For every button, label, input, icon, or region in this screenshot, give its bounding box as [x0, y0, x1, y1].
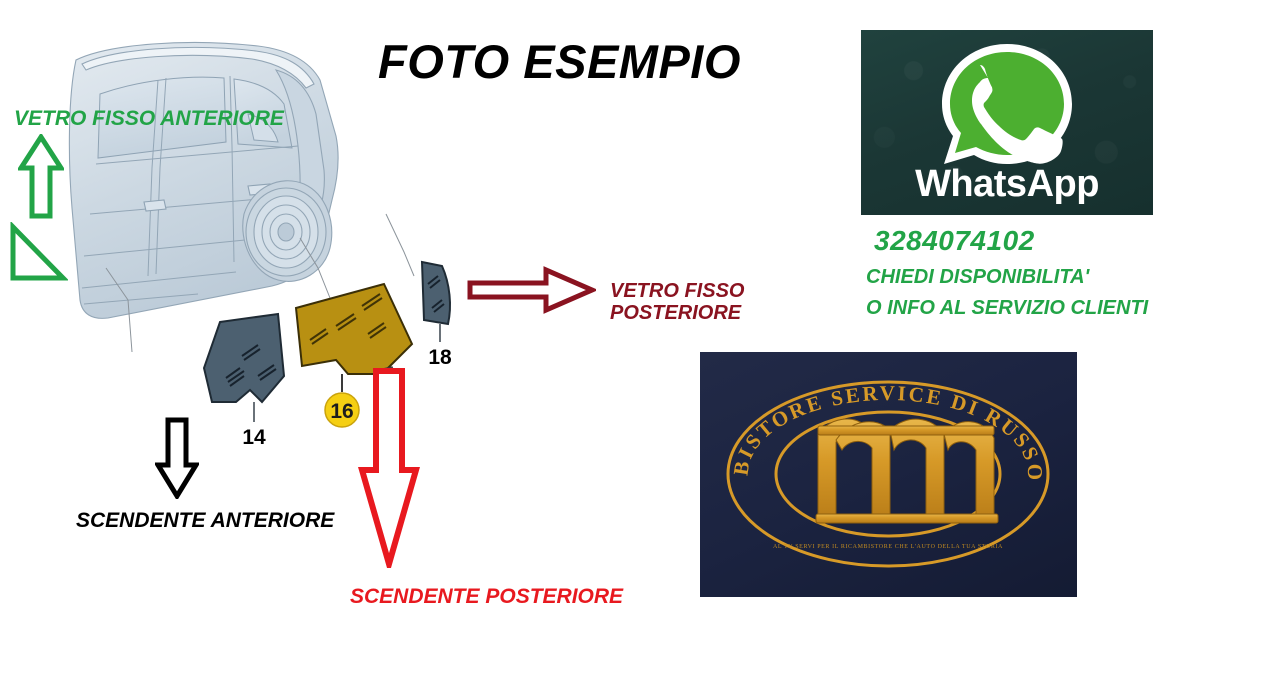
page-title: FOTO ESEMPIO [378, 34, 741, 89]
arrow-right-darkred-icon [466, 266, 596, 314]
part-label-16: 16 [330, 400, 353, 423]
part-label-14: 14 [242, 426, 266, 449]
callout-label-vetro-fisso-posteriore: VETRO FISSO POSTERIORE [610, 280, 744, 325]
brand-logo-artwork: MRICAMBISTORE SERVICE DI RUSSO MARCO AL … [700, 352, 1077, 597]
callout-label-scendente-anteriore: SCENDENTE ANTERIORE [76, 509, 334, 533]
callout-line-1: VETRO FISSO [610, 280, 744, 302]
arrow-down-black-icon [155, 417, 199, 499]
callout-label-vetro-fisso-anteriore: VETRO FISSO ANTERIORE [14, 107, 284, 131]
arrow-up-green-icon [18, 134, 64, 220]
logo-fine-print: AL TU SERVI PER IL RICAMBISTORE CHE L'AU… [773, 544, 1003, 550]
brand-logo: MRICAMBISTORE SERVICE DI RUSSO MARCO AL … [700, 352, 1077, 597]
callout-label-scendente-posteriore: SCENDENTE POSTERIORE [350, 585, 623, 609]
part-14-shape [204, 314, 284, 422]
contact-service-text: O INFO AL SERVIZIO CLIENTI [866, 297, 1148, 320]
part-18-shape [422, 262, 450, 342]
parts-diagram: 14 16 17 18 [150, 250, 490, 450]
contact-availability-text: CHIEDI DISPONIBILITA' [866, 266, 1089, 289]
whatsapp-phone-icon [932, 38, 1082, 170]
diagram-canvas: 14 16 17 18 [0, 0, 1264, 678]
arrow-down-red-icon [358, 368, 420, 568]
logo-monogram [816, 419, 998, 523]
whatsapp-banner[interactable]: WhatsApp [861, 30, 1153, 215]
part-label-18: 18 [428, 346, 452, 369]
callout-line-2: POSTERIORE [610, 302, 744, 324]
contact-phone-number[interactable]: 3284074102 [874, 225, 1035, 257]
whatsapp-wordmark: WhatsApp [861, 163, 1153, 206]
triangle-green-icon [8, 222, 68, 284]
